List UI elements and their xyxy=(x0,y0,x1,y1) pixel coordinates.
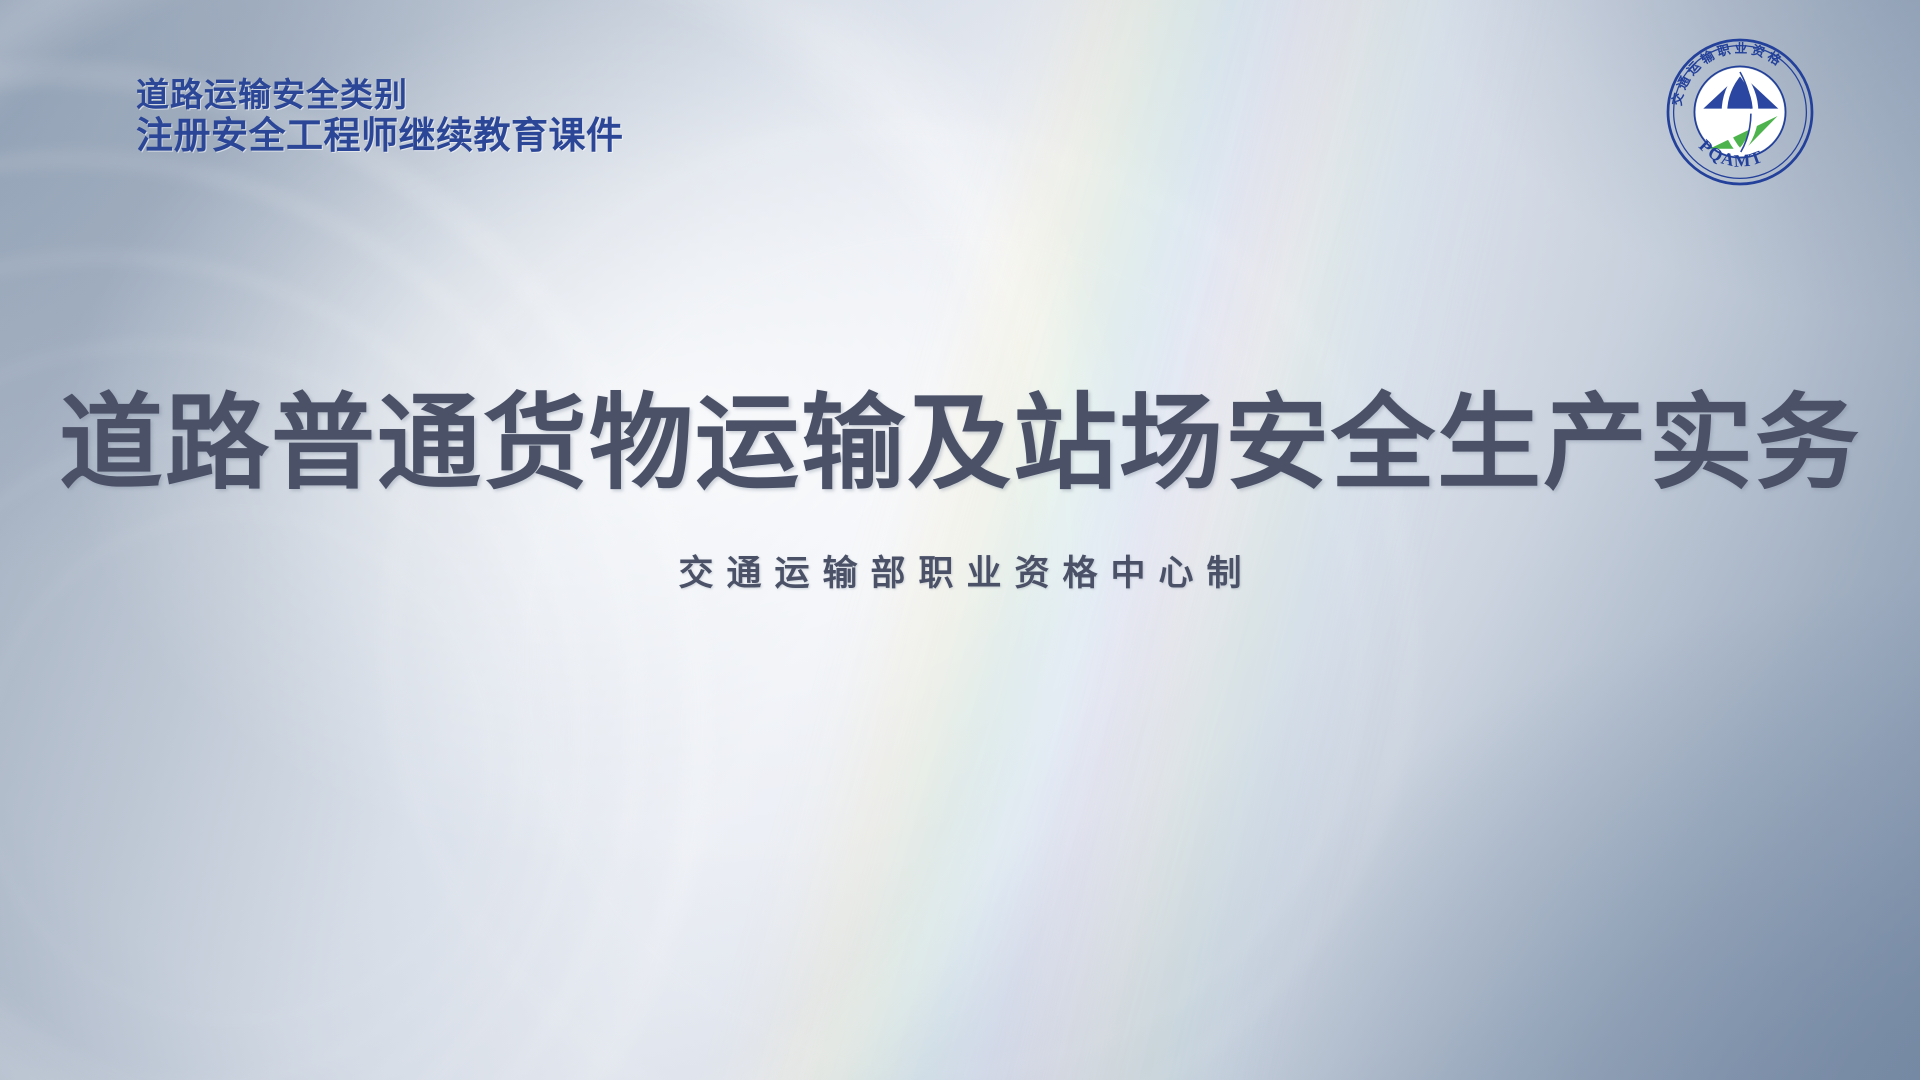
title-slide: 道路运输安全类别 注册安全工程师继续教育课件 道路普通货物运输及站场安全生产实务… xyxy=(0,0,1920,1080)
header-block: 道路运输安全类别 注册安全工程师继续教育课件 xyxy=(136,78,624,154)
header-course-line: 注册安全工程师继续教育课件 xyxy=(136,117,624,154)
pqamt-logo-icon: 交 通 运 输 职 业 资 格 PQAMT xyxy=(1660,32,1820,192)
page-subtitle: 交通运输部职业资格中心制 xyxy=(0,545,1920,596)
header-category-line: 道路运输安全类别 xyxy=(136,78,624,111)
slide-content: 道路运输安全类别 注册安全工程师继续教育课件 道路普通货物运输及站场安全生产实务… xyxy=(0,0,1920,1080)
page-title: 道路普通货物运输及站场安全生产实务 xyxy=(0,358,1920,509)
